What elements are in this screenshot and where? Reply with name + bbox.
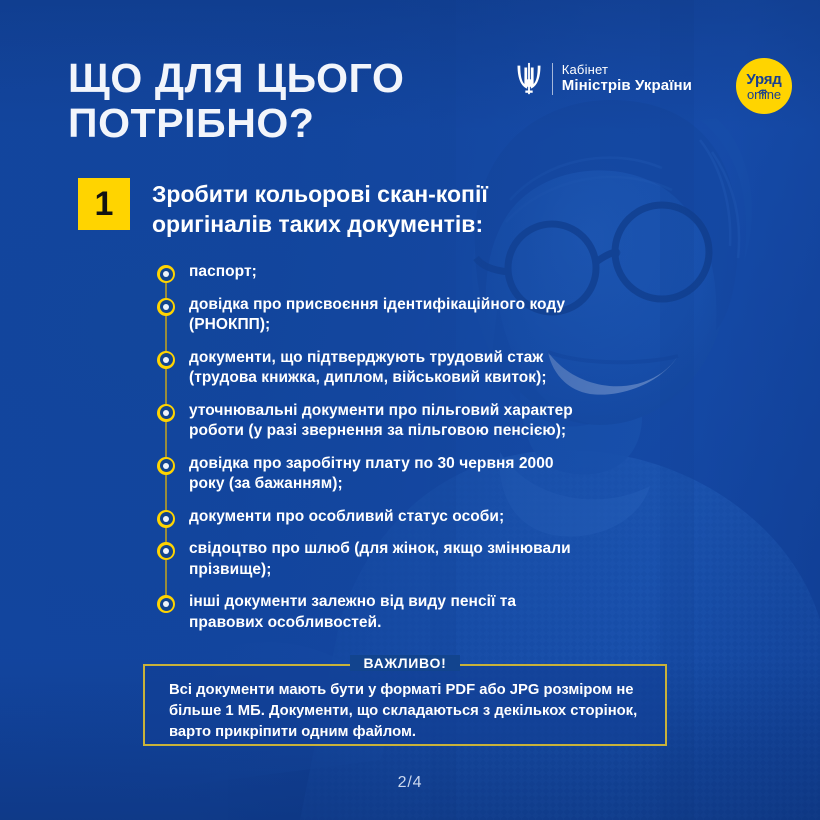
poster-slide: ЩО ДЛЯ ЦЬОГО ПОТРІБНО? Кабінет Міністрів… xyxy=(0,0,820,820)
list-item-label: документи, що підтверджують трудовий ста… xyxy=(189,348,577,389)
brand-line-ministers: Міністрів України xyxy=(562,78,692,95)
list-item: паспорт; xyxy=(157,262,577,283)
list-item: свідоцтво про шлюб (для жінок, якщо змін… xyxy=(157,539,577,580)
list-item: документи про особливий статус особи; xyxy=(157,507,577,528)
list-item: інші документи залежно від виду пенсії т… xyxy=(157,592,577,633)
list-item: довідка про присвоєння ідентифікаційного… xyxy=(157,295,577,336)
step-block: 1 Зробити кольорові скан-копії оригіналі… xyxy=(78,178,582,239)
documents-list: паспорт; довідка про присвоєння ідентифі… xyxy=(157,262,577,645)
uryad-online-badge[interactable]: Уряд online xyxy=(736,58,792,114)
list-item-label: довідка про заробітну плату по 30 червня… xyxy=(189,454,577,495)
step-heading: Зробити кольорові скан-копії оригіналів … xyxy=(152,178,582,239)
bullet-icon xyxy=(157,404,175,422)
brand-line-cabinet: Кабінет xyxy=(562,63,692,78)
important-body-text: Всі документи мають бути у форматі PDF а… xyxy=(145,666,665,743)
ukraine-trident-icon xyxy=(515,62,543,96)
list-item: довідка про заробітну плату по 30 червня… xyxy=(157,454,577,495)
page-title: ЩО ДЛЯ ЦЬОГО ПОТРІБНО? xyxy=(68,56,488,146)
brand-divider xyxy=(552,63,553,95)
bullet-icon xyxy=(157,542,175,560)
bullet-icon xyxy=(157,298,175,316)
wifi-signal-icon xyxy=(757,84,769,96)
step-number-badge: 1 xyxy=(78,178,130,230)
government-brand: Кабінет Міністрів України xyxy=(515,62,692,96)
list-item-label: довідка про присвоєння ідентифікаційного… xyxy=(189,295,577,336)
list-item-label: документи про особливий статус особи; xyxy=(189,507,577,528)
brand-text: Кабінет Міністрів України xyxy=(562,63,692,94)
header: ЩО ДЛЯ ЦЬОГО ПОТРІБНО? Кабінет Міністрів… xyxy=(0,0,820,160)
list-item-label: інші документи залежно від виду пенсії т… xyxy=(189,592,577,633)
bullet-icon xyxy=(157,595,175,613)
bullet-icon xyxy=(157,351,175,369)
list-item-label: свідоцтво про шлюб (для жінок, якщо змін… xyxy=(189,539,577,580)
bullet-icon xyxy=(157,265,175,283)
list-item-label: паспорт; xyxy=(189,262,577,283)
list-item: документи, що підтверджують трудовий ста… xyxy=(157,348,577,389)
page-indicator: 2/4 xyxy=(0,774,820,792)
bullet-icon xyxy=(157,457,175,475)
important-notice-box: ВАЖЛИВО! Всі документи мають бути у форм… xyxy=(143,664,667,746)
list-item: уточнювальні документи про пільговий хар… xyxy=(157,401,577,442)
list-item-label: уточнювальні документи про пільговий хар… xyxy=(189,401,577,442)
bullet-icon xyxy=(157,510,175,528)
